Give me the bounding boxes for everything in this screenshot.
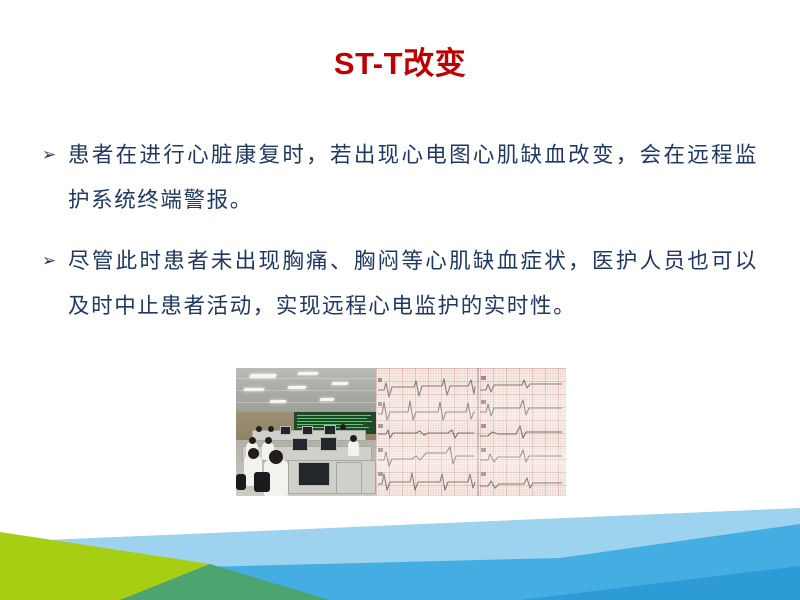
bullet-arrow-icon: ➢ [42, 133, 68, 178]
bullet-item-1: ➢ 患者在进行心脏康复时，若出现心电图心肌缺血改变，会在远程监护系统终端警报。 [42, 133, 758, 223]
bullet-item-2: ➢ 尽管此时患者未出现胸痛、胸闷等心肌缺血症状，医护人员也可以及时中止患者活动，… [42, 239, 758, 329]
ecg-waveforms [376, 368, 566, 496]
person-head [268, 426, 274, 432]
ceiling-lamp [331, 382, 348, 385]
ceiling-lamp [287, 386, 306, 389]
image-group [236, 368, 566, 496]
person-head [249, 437, 256, 444]
ceiling-lamp [249, 374, 277, 378]
page-title: ST-T改变 [0, 46, 800, 82]
monitoring-center-photo [236, 368, 376, 496]
person-head [269, 450, 283, 464]
monitor-screen [292, 438, 308, 451]
monitor-screen [280, 426, 291, 435]
bullet-text-1: 患者在进行心脏康复时，若出现心电图心肌缺血改变，会在远程监护系统终端警报。 [68, 133, 758, 223]
wave-banner [0, 480, 800, 600]
ceiling-lamp [243, 388, 264, 391]
bullet-text-2: 尽管此时患者未出现胸痛、胸闷等心肌缺血症状，医护人员也可以及时中止患者活动，实现… [68, 239, 758, 329]
ecg-strip-image [376, 368, 566, 496]
monitor-screen [324, 425, 336, 435]
ceiling-lamp [269, 400, 286, 403]
ceiling-lamp [297, 372, 318, 375]
bullet-arrow-icon: ➢ [42, 239, 68, 284]
person-head [340, 424, 346, 430]
ceiling-grid-line [236, 402, 376, 403]
presentation-slide: ST-T改变 ➢ 患者在进行心脏康复时，若出现心电图心肌缺血改变，会在远程监护系… [0, 0, 800, 600]
staff-member [348, 440, 359, 456]
monitor-screen [320, 437, 337, 451]
ceiling-grid-line [236, 378, 376, 379]
slide-body: ➢ 患者在进行心脏康复时，若出现心电图心肌缺血改变，会在远程监护系统终端警报。 … [42, 133, 758, 345]
person-head [248, 448, 259, 459]
ceiling-lamp [319, 398, 334, 401]
person-head [256, 426, 262, 432]
ecg-column-divider [477, 368, 479, 496]
monitor-screen [302, 426, 313, 435]
person-head [350, 435, 357, 442]
person-head [265, 437, 272, 444]
